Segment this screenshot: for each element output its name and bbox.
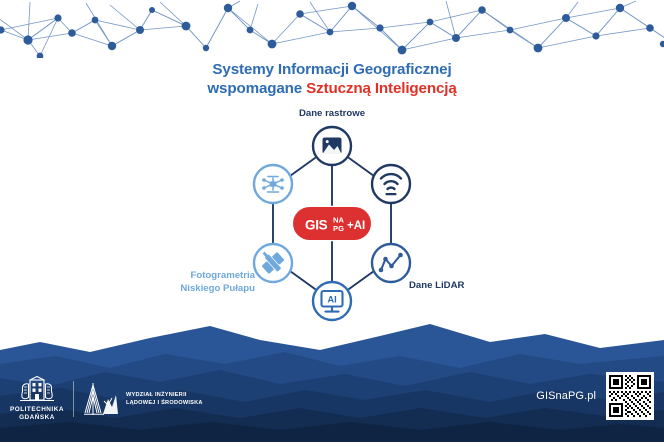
title-line-1: Systemy Informacji Geograficznej <box>0 60 664 79</box>
footer-logos: POLITECHNIKA GDAŃSKA WYDZIAŁ INŻYNIERII <box>10 376 203 422</box>
pg-name-line1: POLITECHNIKA <box>10 406 64 413</box>
footer-divider <box>73 381 74 417</box>
network-nodes-svg <box>0 0 664 58</box>
hexagon-diagram: AI <box>0 108 664 323</box>
node-lidar[interactable] <box>372 165 410 203</box>
faculty-name: WYDZIAŁ INŻYNIERII LĄDOWEJ I ŚRODOWISKA <box>126 391 203 407</box>
pg-name-line2: GDAŃSKA <box>19 414 55 421</box>
pg-name: POLITECHNIKA GDAŃSKA <box>10 406 64 422</box>
site-url[interactable]: GISnaPG.pl <box>536 390 596 402</box>
pg-crest-icon <box>17 376 57 404</box>
title-line-2-prefix: wspomagane <box>207 80 306 97</box>
center-badge: GIS NA PG +AI <box>293 207 371 240</box>
faculty-name-line1: WYDZIAŁ INŻYNIERII <box>126 392 187 398</box>
svg-text:GIS: GIS <box>305 218 328 233</box>
qr-code-svg <box>609 375 651 417</box>
svg-text:PG: PG <box>333 224 344 233</box>
politechnika-gdanska-logo: POLITECHNIKA GDAŃSKA <box>10 376 64 422</box>
label-photogrammetry: Fotogrametria Niskiego Pułapu <box>0 270 255 295</box>
label-photo-line2: Niskiego Pułapu <box>0 283 255 296</box>
label-lidar: Dane LiDAR <box>409 280 464 293</box>
qr-code[interactable] <box>606 372 654 420</box>
svg-text:AI: AI <box>327 293 336 304</box>
node-photogrammetry[interactable] <box>254 165 292 203</box>
node-vector[interactable] <box>372 244 410 282</box>
label-photo-line1: Fotogrametria <box>0 270 255 283</box>
node-gps-gnss[interactable] <box>254 244 292 282</box>
footer-link-block: GISnaPG.pl <box>536 372 654 420</box>
faculty-logo-block: WYDZIAŁ INŻYNIERII LĄDOWEJ I ŚRODOWISKA <box>83 381 203 417</box>
svg-text:+AI: +AI <box>347 220 365 232</box>
faculty-name-line2: LĄDOWEJ I ŚRODOWISKA <box>126 400 203 406</box>
page-title: Systemy Informacji Geograficznej wspomag… <box>0 60 664 98</box>
node-machine-learning[interactable]: AI <box>313 282 351 320</box>
title-line-2: wspomagane Sztuczną Inteligencją <box>0 79 664 98</box>
faculty-bridge-icon <box>83 381 119 417</box>
node-raster[interactable] <box>313 127 351 165</box>
title-line-2-accent: Sztuczną Inteligencją <box>306 80 456 97</box>
network-banner-graphic <box>0 0 664 58</box>
label-raster: Dane rastrowe <box>0 108 664 121</box>
